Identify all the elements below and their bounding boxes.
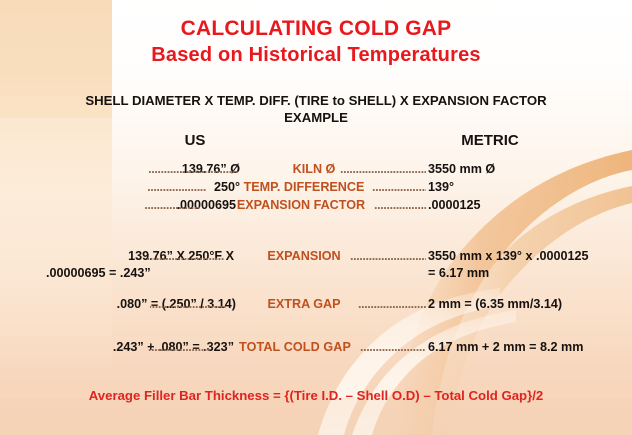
footer-formula: Average Filler Bar Thickness = {(Tire I.…	[0, 388, 632, 403]
slide-canvas: CALCULATING COLD GAP Based on Historical…	[0, 0, 632, 435]
formula-heading-line-1: SHELL DIAMETER X TEMP. DIFF. (TIRE to SH…	[0, 92, 632, 109]
column-header-us: US	[150, 132, 240, 149]
table-row-continuation: .00000695 = .243” = 6.17 mm	[0, 264, 632, 282]
leader-dots-left: ........................................…	[148, 160, 238, 178]
row-expansion-metric-value-line2: = 6.17 mm	[428, 264, 489, 282]
table-row: .080” = (.250” / 3.14) .................…	[0, 295, 632, 313]
row-expansion-factor-metric-value: .0000125	[428, 196, 481, 214]
row-total-cold-gap-metric-value: 6.17 mm + 2 mm = 8.2 mm	[428, 338, 583, 356]
leader-dots-left: ........................................…	[148, 338, 210, 356]
table-row: 139.76” Ø ..............................…	[0, 160, 632, 178]
leader-dots-right: ........................................…	[372, 178, 426, 196]
column-headers: US METRIC	[0, 132, 632, 152]
leader-dots-right: ........................................…	[360, 338, 426, 356]
leader-dots-right: ........................................…	[340, 160, 426, 178]
title-line-2: Based on Historical Temperatures	[0, 42, 632, 68]
row-expansion-metric-value: 3550 mm x 139° x .0000125	[428, 247, 589, 265]
leader-dots-left: ........................................…	[146, 247, 224, 265]
leader-dots-right: ........................................…	[374, 196, 426, 214]
table-row: .00000695 ..............................…	[0, 196, 632, 214]
formula-heading-line-2: EXAMPLE	[0, 109, 632, 126]
row-kiln-diameter-metric-value: 3550 mm Ø	[428, 160, 495, 178]
table-row: .243” + .080” = .323” ..................…	[0, 338, 632, 356]
slide-content: CALCULATING COLD GAP Based on Historical…	[0, 0, 632, 435]
row-extra-gap-metric-value: 2 mm = (6.35 mm/3.14)	[428, 295, 562, 313]
column-header-metric: METRIC	[430, 132, 550, 149]
row-temp-difference-metric-value: 139°	[428, 178, 454, 196]
table-row: 139.76” X 250°F X ......................…	[0, 247, 632, 265]
table-row: 250° ...................................…	[0, 178, 632, 196]
slide-title: CALCULATING COLD GAP Based on Historical…	[0, 16, 632, 68]
row-expansion-us-value-line2: .00000695 = .243”	[46, 264, 151, 282]
leader-dots-left: ........................................…	[144, 196, 200, 214]
title-line-1: CALCULATING COLD GAP	[0, 16, 632, 42]
formula-heading: SHELL DIAMETER X TEMP. DIFF. (TIRE to SH…	[0, 92, 632, 126]
leader-dots-left: ........................................…	[150, 295, 226, 313]
leader-dots-right: ........................................…	[350, 247, 426, 265]
leader-dots-right: ........................................…	[358, 295, 426, 313]
leader-dots-left: ........................................…	[148, 178, 206, 196]
